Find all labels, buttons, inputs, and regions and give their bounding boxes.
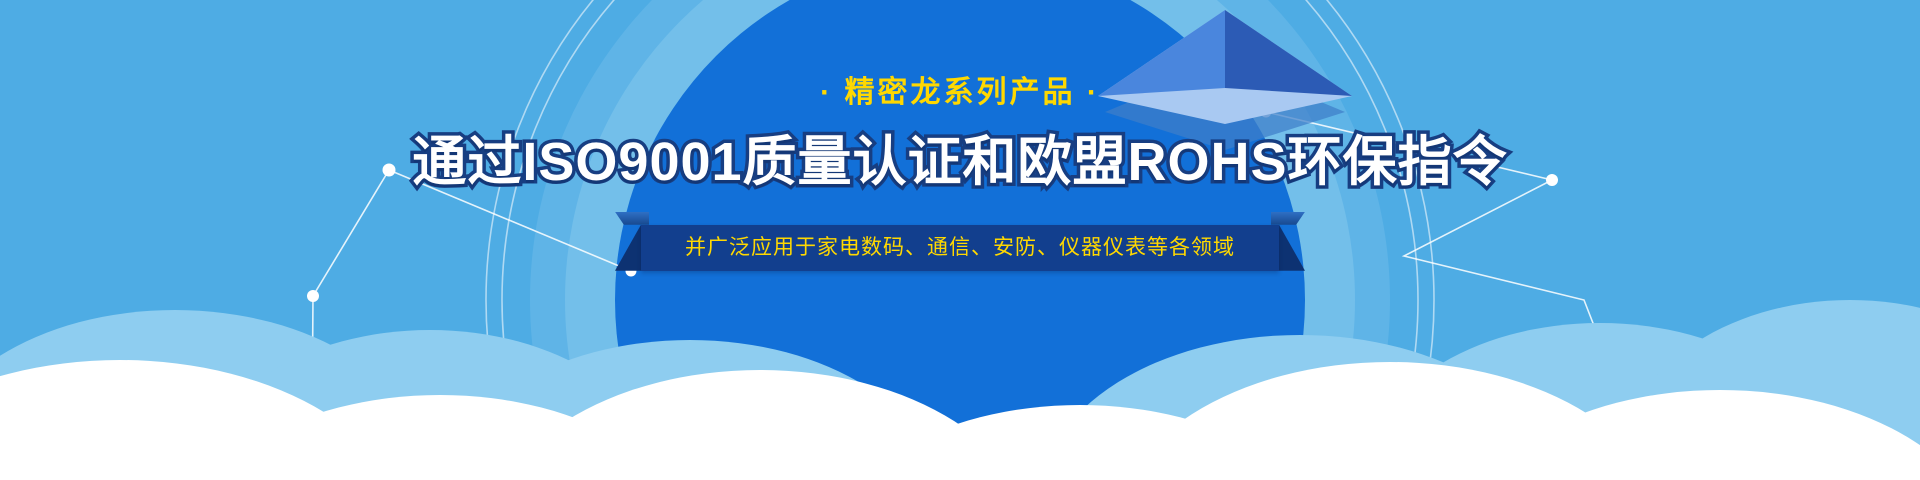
promo-banner: · 精密龙系列产品 · 通过ISO9001质量认证和欧盟ROHS环保指令 并广泛… <box>0 0 1920 480</box>
banner-background-art <box>0 0 1920 480</box>
